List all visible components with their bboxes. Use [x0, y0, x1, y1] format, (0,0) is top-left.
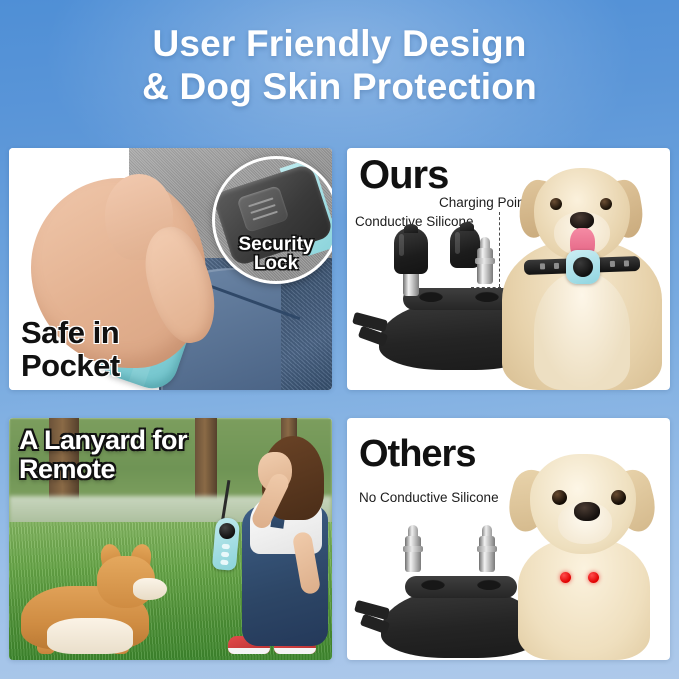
corgi-chest-white — [47, 618, 133, 654]
collar-receiver-module — [566, 250, 600, 284]
dog-nose — [570, 212, 594, 229]
pocket-photo: 99 ▯▮ ⚡ ⬛ Security Lock Safe in Pocket — [9, 148, 332, 390]
panel-others: Others No Conductive Silicone — [347, 418, 670, 660]
golden-retriever-adult — [488, 162, 670, 390]
conductive-silicone-cap — [394, 228, 428, 274]
puppy-nose — [574, 502, 600, 521]
dog-chest — [534, 272, 630, 390]
panel-safe-in-pocket: 99 ▯▮ ⚡ ⬛ Security Lock Safe in Pocket — [9, 148, 332, 390]
prong-left-metal — [405, 536, 421, 572]
remote-on-lanyard — [212, 517, 240, 571]
caption-line-2: Pocket — [21, 349, 120, 382]
prong-right-collar — [477, 546, 497, 552]
prong-left-collar — [403, 546, 423, 552]
caption-line-2: Remote — [19, 455, 187, 484]
prong-socket-left — [421, 579, 445, 590]
title-line-2: & Dog Skin Protection — [0, 65, 679, 108]
puppy-eye-left — [552, 490, 567, 505]
title-line-1: User Friendly Design — [152, 23, 526, 64]
skin-irritation-mark-left — [560, 572, 571, 583]
remote-screen-small — [218, 522, 235, 539]
security-lock-magnifier: Security Lock — [212, 156, 332, 284]
panel-lanyard: A Lanyard for Remote — [9, 418, 332, 660]
security-lock-label-line2: Lock — [254, 253, 298, 274]
golden-retriever-puppy — [496, 450, 668, 660]
others-heading: Others — [359, 434, 475, 474]
page-title: User Friendly Design & Dog Skin Protecti… — [0, 22, 679, 109]
caption-line-1: A Lanyard for — [19, 426, 187, 455]
security-lock-label-line1: Security — [239, 234, 314, 255]
remote-btn-1 — [222, 544, 230, 550]
panel-ours: Ours Conductive Silicone Charging Point — [347, 148, 670, 390]
caption-line-1: Safe in — [21, 316, 120, 349]
label-no-conductive-silicone: No Conductive Silicone — [359, 490, 499, 505]
puppy-eye-right — [611, 490, 626, 505]
dog-eye-left — [550, 198, 562, 210]
remote-btn-3 — [220, 560, 228, 566]
ours-heading: Ours — [359, 154, 448, 196]
skin-irritation-mark-right — [588, 572, 599, 583]
corgi-dog — [21, 556, 177, 654]
corgi-snout — [133, 578, 167, 600]
woman-with-remote — [206, 436, 332, 660]
prong-right-metal — [479, 536, 495, 572]
security-lock-label: Security Lock — [215, 235, 332, 273]
prong-socket-left — [419, 291, 443, 302]
dog-eye-right — [600, 198, 612, 210]
safe-in-pocket-caption: Safe in Pocket — [21, 316, 120, 382]
puppy-body — [518, 538, 650, 660]
remote-btn-2 — [221, 552, 229, 558]
lanyard-caption: A Lanyard for Remote — [19, 426, 187, 484]
